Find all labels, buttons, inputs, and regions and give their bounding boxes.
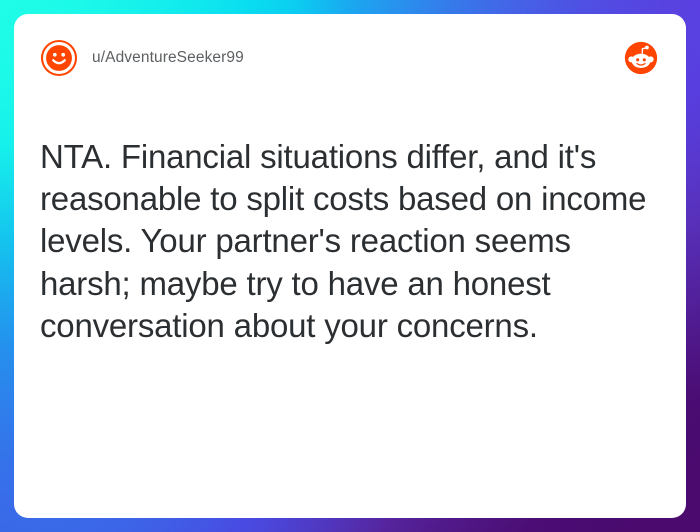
- comment-author-username: u/AdventureSeeker99: [92, 49, 244, 67]
- smiley-face-avatar-icon[interactable]: [40, 39, 78, 77]
- reddit-snoo-logo-icon[interactable]: [624, 41, 658, 75]
- comment-body-text: NTA. Financial situations differ, and it…: [40, 136, 660, 492]
- reddit-comment-card: u/AdventureSeeker99 NTA. Financial situa…: [14, 14, 686, 518]
- gradient-background: u/AdventureSeeker99 NTA. Financial situa…: [0, 0, 700, 532]
- comment-author-group[interactable]: u/AdventureSeeker99: [40, 39, 244, 77]
- comment-header: u/AdventureSeeker99: [40, 38, 660, 78]
